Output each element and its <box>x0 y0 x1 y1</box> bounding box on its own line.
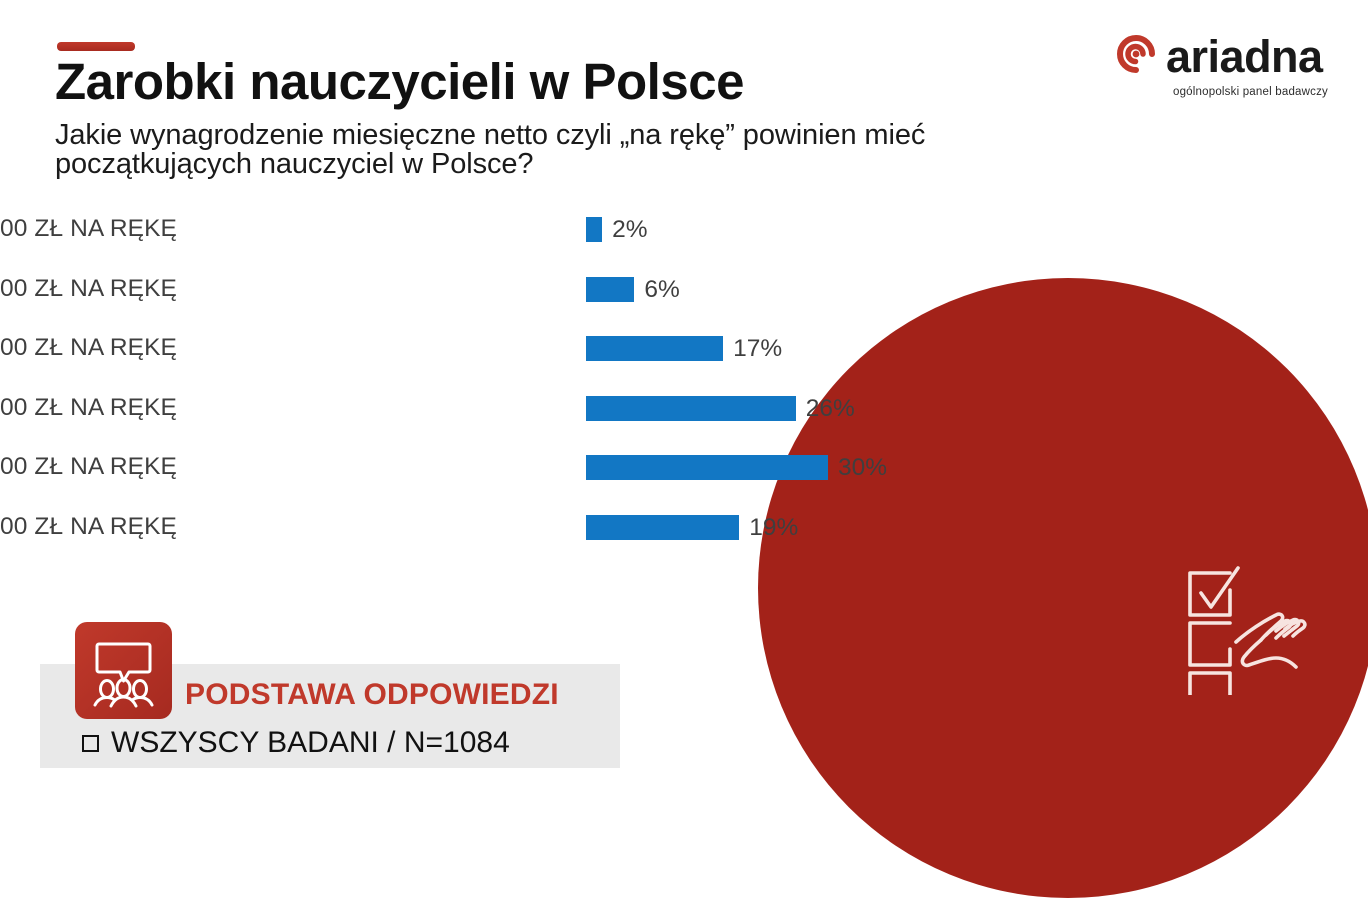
bar-fill <box>586 336 723 361</box>
bar-track: 17% <box>586 336 782 361</box>
footer-heading: PODSTAWA ODPOWIEDZI <box>185 678 559 712</box>
chart-row: OD 3501 DO 4000 ZŁ NA RĘKĘ 26% <box>0 387 1000 447</box>
page-subtitle: Jakie wynagrodzenie miesięczne netto czy… <box>55 121 1065 179</box>
bar-category-label: POWYŻEJ 6000 ZŁ NA RĘKĘ <box>0 208 177 250</box>
chart-row: OD 5001 DO 6000 ZŁ NA RĘKĘ 6% <box>0 268 1000 328</box>
bar-value-label: 30% <box>838 455 887 480</box>
bar-category-label: OD 5001 DO 6000 ZŁ NA RĘKĘ <box>0 268 177 310</box>
bar-track: 2% <box>586 217 648 242</box>
bar-chart: POWYŻEJ 6000 ZŁ NA RĘKĘ 2% OD 5001 DO 60… <box>0 208 1000 565</box>
checkbox-bullet-icon <box>82 735 99 752</box>
footer-base-label: WSZYSCY BADANI / N=1084 <box>111 726 510 760</box>
bar-value-label: 17% <box>733 336 782 361</box>
title-accent-bar <box>57 42 135 51</box>
bar-value-label: 26% <box>806 396 855 421</box>
bar-track: 19% <box>586 515 798 540</box>
logo-tagline: ogólnopolski panel badawczy <box>1112 86 1330 98</box>
ariadna-spiral-icon <box>1112 30 1160 83</box>
bar-value-label: 2% <box>612 217 647 242</box>
respondents-icon <box>75 622 172 719</box>
bar-fill <box>586 217 602 242</box>
bar-track: 30% <box>586 455 887 480</box>
bar-fill <box>586 277 634 302</box>
chart-row: OD 4001 DO 4500 ZŁ NA RĘKĘ 17% <box>0 327 1000 387</box>
bar-category-label: OD 4001 DO 4500 ZŁ NA RĘKĘ <box>0 327 177 369</box>
bar-fill <box>586 455 828 480</box>
chart-row: OD 3001 DO 3500 ZŁ NA RĘKĘ 30% <box>0 446 1000 506</box>
bar-category-label: OD 3001 DO 3500 ZŁ NA RĘKĘ <box>0 446 177 488</box>
chart-row: POWYŻEJ 6000 ZŁ NA RĘKĘ 2% <box>0 208 1000 268</box>
bar-track: 26% <box>586 396 855 421</box>
bar-category-label: OD 3501 DO 4000 ZŁ NA RĘKĘ <box>0 387 177 429</box>
bar-category-label: DO 3 000 ZŁ NA RĘKĘ <box>0 506 177 548</box>
bar-value-label: 19% <box>749 515 798 540</box>
footer-base-row: WSZYSCY BADANI / N=1084 <box>82 726 510 760</box>
bar-fill <box>586 515 739 540</box>
ariadna-logo: ariadna ogólnopolski panel badawczy <box>1112 30 1330 102</box>
bar-value-label: 6% <box>644 277 679 302</box>
bar-fill <box>586 396 796 421</box>
logo-wordmark: ariadna <box>1166 34 1323 79</box>
chart-row: DO 3 000 ZŁ NA RĘKĘ 19% <box>0 506 1000 566</box>
page-title: Zarobki nauczycieli w Polsce <box>55 52 744 111</box>
bar-track: 6% <box>586 277 680 302</box>
checklist-hand-illustration <box>1188 545 1348 695</box>
